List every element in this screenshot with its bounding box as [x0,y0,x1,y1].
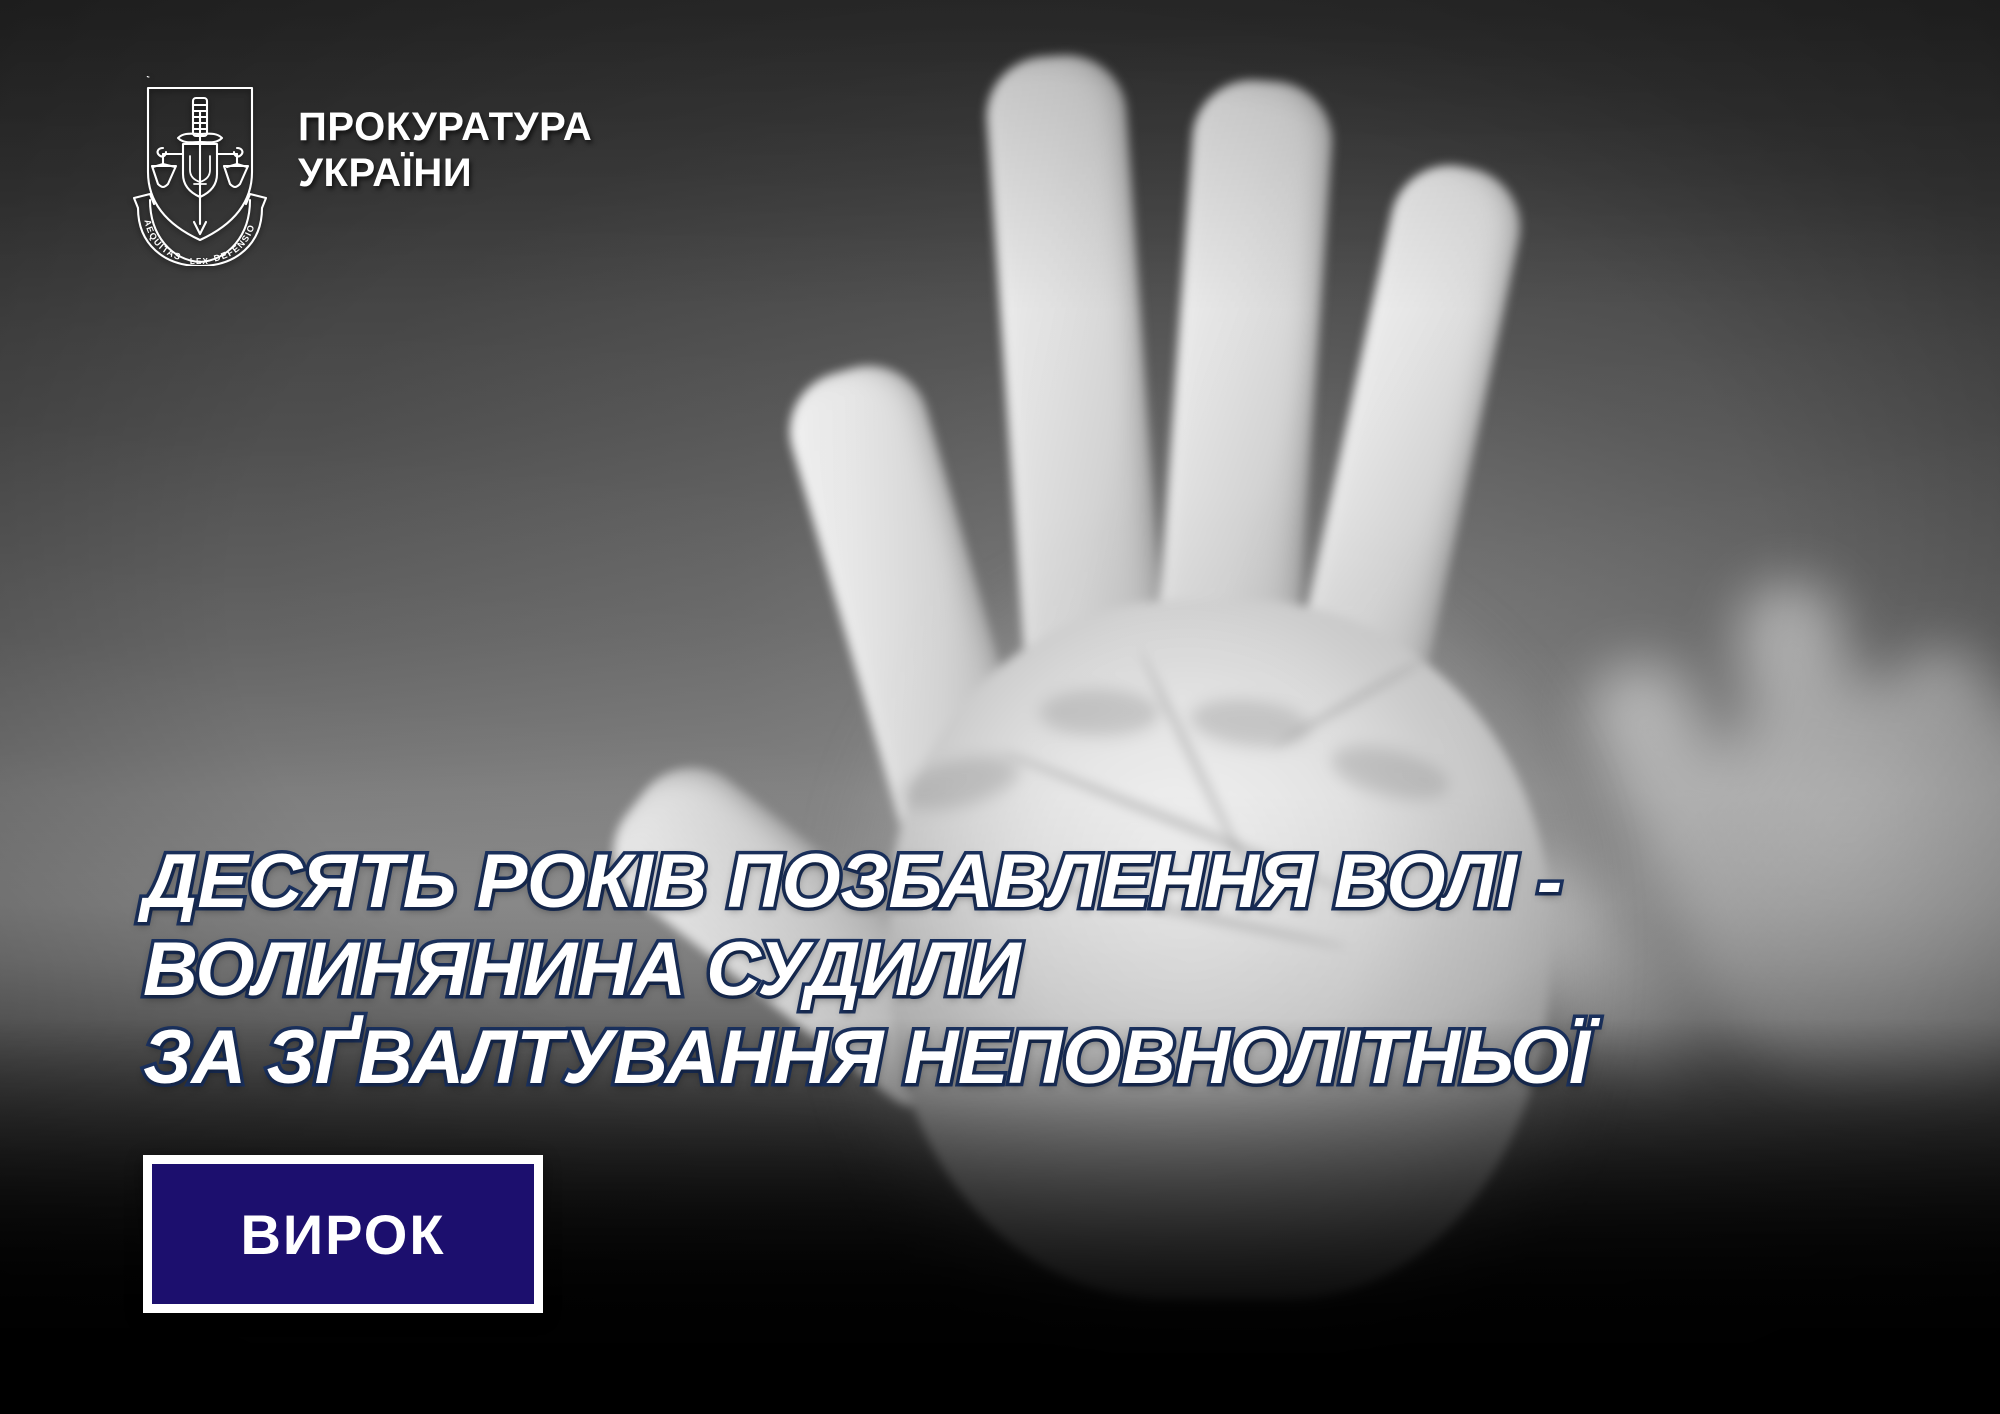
prosecutor-shield-emblem-icon: AEQUITAS AEQUITAS DEFENSIO LEX [130,76,270,266]
headline-line-2: ВОЛИНЯНИНА СУДИЛИ [143,926,1589,1014]
headline-line-1: ДЕСЯТЬ РОКІВ ПОЗБАВЛЕННЯ ВОЛІ - [143,838,1589,926]
verdict-badge-label: ВИРОК [240,1202,445,1267]
brand-name: ПРОКУРАТУРА УКРАЇНИ [298,104,592,197]
news-card-poster: AEQUITAS AEQUITAS DEFENSIO LEX ПРОКУРАТУ… [0,0,2000,1414]
emblem-motto-left: AEQUITAS [130,76,181,78]
verdict-badge: ВИРОК [143,1155,543,1313]
brand-name-line-1: ПРОКУРАТУРА [298,104,592,150]
emblem-motto-lex: LEX [190,257,209,266]
headline: ДЕСЯТЬ РОКІВ ПОЗБАВЛЕННЯ ВОЛІ - ВОЛИНЯНИ… [143,838,1589,1102]
brand-name-line-2: УКРАЇНИ [298,150,592,196]
headline-line-3: ЗА ЗҐВАЛТУВАННЯ НЕПОВНОЛІТНЬОЇ [143,1014,1589,1102]
brand-logo-lockup: AEQUITAS AEQUITAS DEFENSIO LEX ПРОКУРАТУ… [130,76,592,266]
verdict-badge-inner: ВИРОК [152,1164,534,1304]
